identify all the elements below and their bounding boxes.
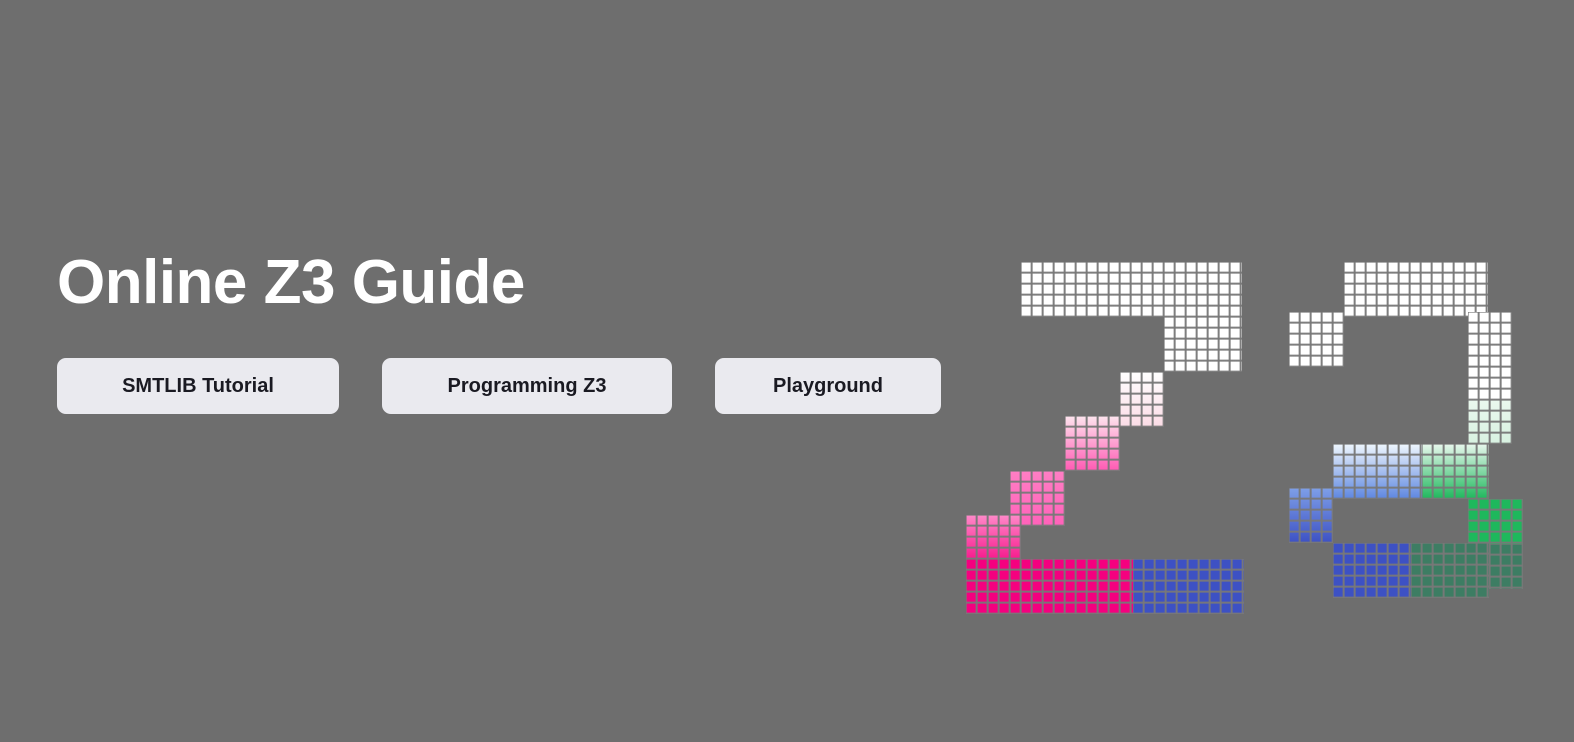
playground-button[interactable]: Playground [715, 358, 941, 414]
z-top-bar [1021, 262, 1242, 317]
z-bottom-pink [966, 559, 1133, 614]
three-right-upper [1468, 312, 1512, 400]
three-mid-green [1422, 444, 1489, 499]
z-stair-2 [1065, 416, 1120, 471]
three-top-left-stub [1289, 312, 1344, 367]
page-title: Online Z3 Guide [57, 252, 957, 314]
programming-z3-button[interactable]: Programming Z3 [382, 358, 672, 414]
z-top-right-stub [1164, 317, 1242, 372]
z3-pixel-logo [1021, 262, 1521, 582]
three-right-fade [1468, 400, 1512, 444]
three-mid-blue [1333, 444, 1422, 499]
z-stair-1 [1120, 372, 1164, 427]
z-bottom-blue [1133, 559, 1244, 614]
three-bottom-blue [1333, 543, 1411, 598]
hero-section: Online Z3 Guide SMTLIB Tutorial Programm… [57, 252, 957, 414]
smtlib-tutorial-button[interactable]: SMTLIB Tutorial [57, 358, 339, 414]
three-bottom-green [1411, 543, 1489, 598]
three-top-bar [1344, 262, 1488, 317]
hero-button-row: SMTLIB Tutorial Programming Z3 Playgroun… [57, 358, 957, 414]
three-left-blue [1289, 488, 1333, 543]
page-root: Online Z3 Guide SMTLIB Tutorial Programm… [0, 0, 1574, 742]
